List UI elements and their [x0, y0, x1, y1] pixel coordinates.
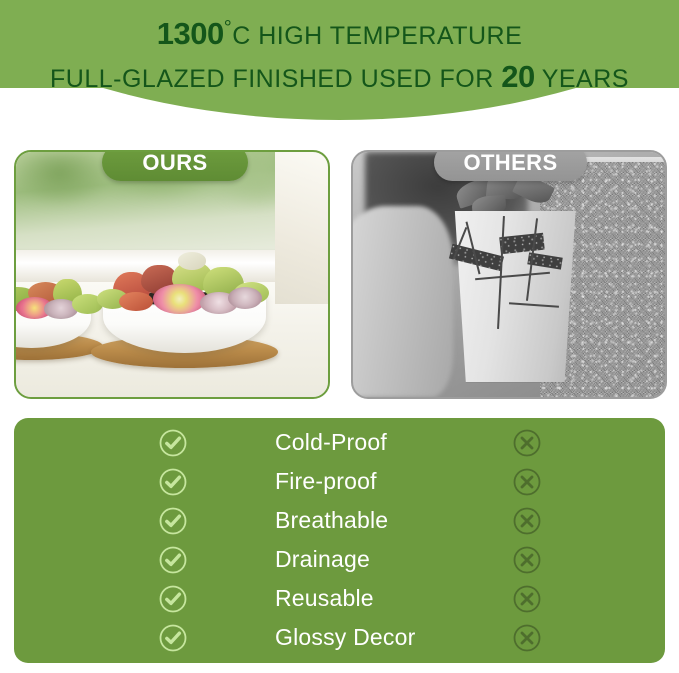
- feature-row: Cold-Proof: [14, 423, 665, 462]
- panel-others: OTHERS: [351, 150, 667, 399]
- badge-ours: OURS: [102, 150, 248, 181]
- feature-row: Glossy Decor: [14, 618, 665, 657]
- header-banner: 1300°C HIGH TEMPERATURE FULL-GLAZED FINI…: [0, 0, 679, 135]
- panel-ours-photo: [16, 152, 328, 397]
- x-circle-icon: [512, 506, 542, 536]
- check-circle-icon: [158, 428, 188, 458]
- feature-row: Reusable: [14, 579, 665, 618]
- feature-label: Glossy Decor: [275, 624, 415, 651]
- check-circle-icon: [158, 506, 188, 536]
- x-circle-icon: [512, 623, 542, 653]
- feature-row: Breathable: [14, 501, 665, 540]
- x-circle-icon: [512, 545, 542, 575]
- feature-label: Cold-Proof: [275, 429, 387, 456]
- header-temperature-value: 1300: [157, 16, 224, 51]
- feature-row: Drainage: [14, 540, 665, 579]
- feature-label: Breathable: [275, 507, 388, 534]
- feature-row: Fire-proof: [14, 462, 665, 501]
- feature-label: Drainage: [275, 546, 370, 573]
- check-circle-icon: [158, 584, 188, 614]
- x-circle-icon: [512, 584, 542, 614]
- header-temperature-unit: C: [232, 22, 251, 50]
- hand-holding-pot: [353, 206, 453, 397]
- check-circle-icon: [158, 467, 188, 497]
- succulent-main-10: [178, 252, 206, 269]
- header-line-1-text: HIGH TEMPERATURE: [258, 22, 522, 50]
- check-circle-icon: [158, 623, 188, 653]
- window-right-wall: [275, 152, 328, 304]
- check-circle-icon: [158, 545, 188, 575]
- panel-ours: OURS: [14, 150, 330, 399]
- feature-label: Reusable: [275, 585, 374, 612]
- header-line-1: 1300°C HIGH TEMPERATURE: [0, 16, 679, 52]
- x-circle-icon: [512, 467, 542, 497]
- header-line-2-suffix: YEARS: [542, 65, 629, 93]
- succulent-main-9: [228, 287, 262, 309]
- features-comparison-panel: Cold-Proof Fire-proof Breathable Drainag…: [14, 418, 665, 663]
- x-circle-icon: [512, 428, 542, 458]
- feature-label: Fire-proof: [275, 468, 377, 495]
- comparison-panels: OURS OTHERS: [0, 142, 679, 404]
- header-degree-symbol: °: [224, 17, 233, 39]
- succulent-main-flower: [153, 284, 206, 313]
- header-years-value: 20: [501, 59, 534, 94]
- header-line-2-prefix: FULL-GLAZED FINISHED USED FOR: [50, 65, 494, 93]
- panel-others-photo: [353, 152, 665, 397]
- badge-others: OTHERS: [434, 150, 587, 181]
- header-text-block: 1300°C HIGH TEMPERATURE FULL-GLAZED FINI…: [0, 0, 679, 95]
- header-line-2: FULL-GLAZED FINISHED USED FOR 20 YEARS: [0, 59, 679, 95]
